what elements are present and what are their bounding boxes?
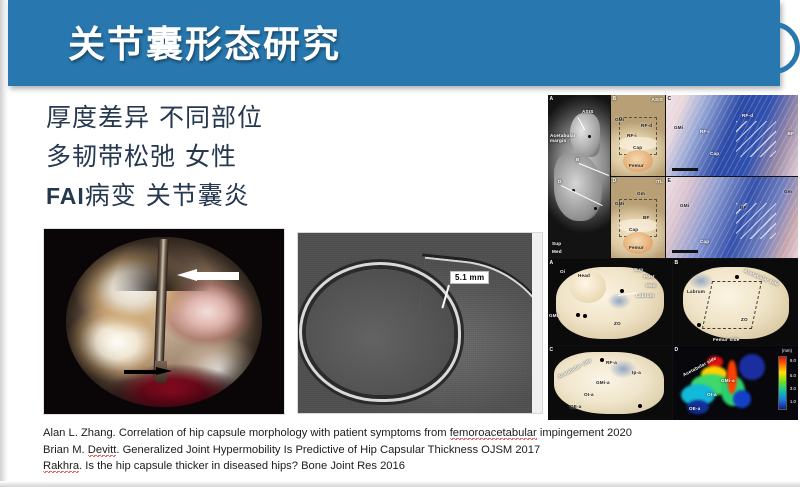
colorbar-tick-1: 9.0 — [790, 358, 796, 363]
colorbar-unit-label: (mm) — [782, 348, 792, 353]
label-oe-a: OE-a — [689, 406, 701, 411]
label-gm: Gm — [784, 189, 792, 194]
citation-3-post: . Is the hip capsule thicker in diseased… — [79, 460, 405, 472]
colorbar — [778, 356, 787, 410]
label-ip-a: Ip-a — [632, 370, 641, 375]
scale-bar — [672, 168, 698, 171]
marker-dot — [594, 207, 597, 210]
white-arrow-icon — [177, 269, 239, 282]
slide-bottom-border — [0, 481, 800, 487]
label-asis: ASIS — [582, 109, 594, 114]
bullet-line-3: FAI病变 关节囊炎 — [46, 176, 346, 216]
bullet-line-3-cn: 病变 关节囊炎 — [85, 181, 250, 210]
label-bf: BF — [740, 205, 747, 210]
citation-3-misspelled: Rakhra — [43, 460, 79, 473]
label-cap: Cap — [700, 239, 709, 244]
label-gmi-a: GMi-a — [596, 380, 610, 385]
label-oi-a: OI-a — [584, 392, 594, 397]
scale-bar — [672, 250, 698, 253]
citation-2-misspelled: Devitt — [88, 444, 117, 457]
panel-id-e: E — [668, 178, 671, 184]
label-med: Med — [552, 249, 562, 254]
label-rf-d: RF-d — [742, 113, 753, 118]
label-sup: Sup — [634, 267, 643, 272]
label-itl: ITL — [656, 179, 664, 184]
label-acetabular-margin: Acetabular margin — [550, 133, 574, 143]
citation-2-post: . Generalized Joint Hypermobility Is Pre… — [116, 444, 540, 456]
panel-gross-section-top: B ASIS GMi RF-d RF-i Cap Femur — [611, 95, 665, 176]
mri-right-margin — [532, 233, 542, 413]
label-d: D — [558, 179, 562, 184]
citation-1-misspelled: femoroacetabular — [450, 427, 537, 440]
label-rf-i: RF-i — [700, 129, 710, 134]
label-labrum: Labrum — [687, 289, 705, 294]
decorative-circle-icon — [748, 22, 800, 74]
label-zo: ZO — [741, 317, 748, 322]
label-zo: ZO — [614, 321, 621, 326]
label-rf-a: RF-a — [606, 360, 617, 365]
panel-gross-section-bottom: D GMi ITL Gm BF Cap Femur — [611, 177, 665, 258]
label-gmi: GMi — [680, 203, 689, 208]
label-femur: Femur — [629, 163, 644, 168]
panel-id-b: B — [613, 96, 617, 102]
citation-1-pre: Alan L. Zhang. Correlation of hip capsul… — [43, 427, 450, 439]
colorbar-tick-4: 1.0 — [790, 399, 796, 404]
citation-3: Rakhra. Is the hip capsule thicker in di… — [43, 458, 743, 475]
label-gmi: GMi — [674, 125, 683, 130]
label-gmi-a: GMi-a — [721, 378, 735, 383]
panel-id-a2: A — [550, 260, 554, 266]
citation-2-pre: Brian M. — [43, 444, 88, 456]
panel-id-d2: D — [675, 347, 679, 353]
citation-list: Alan L. Zhang. Correlation of hip capsul… — [43, 425, 743, 475]
mri-measurement-label: 5.1 mm — [450, 271, 489, 284]
label-labrum: Labrum — [636, 293, 654, 298]
presentation-slide: 关节囊形态研究 厚度差异 不同部位 多韧带松弛 女性 FAI病变 关节囊炎 5.… — [0, 0, 800, 487]
citation-1-post: impingement 2020 — [537, 427, 632, 439]
label-rf-d: RF-d — [641, 123, 652, 128]
label-med: Med — [646, 283, 656, 288]
label-gmi: GMi — [549, 313, 558, 318]
label-femur-side: Femur side — [713, 337, 740, 342]
panel-radiograph: A ASIS Acetabular margin B D Sup Med — [548, 95, 610, 258]
page-title: 关节囊形态研究 — [68, 14, 341, 68]
slide-left-border — [0, 0, 8, 487]
citation-2: Brian M. Devitt. Generalized Joint Hyper… — [43, 442, 743, 459]
label-gmi: GMi — [615, 117, 624, 122]
black-arrow-icon — [124, 367, 172, 376]
panel-thickness-heatmap: (mm) 9.0 5.0 3.0 1.0 D Acetabular side G… — [673, 346, 798, 420]
colorbar-tick-3: 3.0 — [790, 386, 796, 391]
bullet-line-1: 厚度差异 不同部位 — [46, 98, 346, 137]
colorbar-tick-2: 5.0 — [790, 373, 796, 378]
label-oi-a: OI-a — [707, 392, 717, 397]
panel-id-c2: C — [550, 347, 554, 353]
panel-histology-top: C GMi RF-d RF-i Cap BF — [666, 95, 798, 176]
label-oe-a: OE-a — [570, 404, 582, 409]
panel-specimen-right: B Labrum Acetabular side ZO Femur side — [673, 259, 798, 345]
panel-id-c: C — [668, 96, 672, 102]
label-head: Head — [578, 273, 590, 278]
panel-histology-bottom: E GMi BF Cap Gm — [666, 177, 798, 258]
panel-specimen-left: A Head Labrum GMi Oi ZO Sup Post Med — [548, 259, 672, 345]
label-bf: BF — [787, 131, 794, 136]
label-gmi: GMi — [615, 201, 624, 206]
citation-1: Alan L. Zhang. Correlation of hip capsul… — [43, 425, 743, 442]
label-rf-i: RF-i — [627, 133, 637, 138]
bullet-line-2: 多韧带松弛 女性 — [46, 137, 346, 176]
panel-id-d: D — [613, 178, 617, 184]
bullet-text-block: 厚度差异 不同部位 多韧带松弛 女性 FAI病变 关节囊炎 — [46, 98, 346, 216]
label-asis: ASIS — [651, 97, 663, 102]
label-post: Post — [644, 274, 655, 279]
label-b: B — [576, 157, 580, 162]
bullet-line-3-en: FAI — [46, 183, 85, 209]
label-cap: Cap — [710, 151, 719, 156]
hip-mri-coronal: 5.1 mm — [297, 232, 543, 414]
slide-title-bar: 关节囊形态研究 — [8, 0, 780, 86]
label-cap: Cap — [629, 227, 638, 232]
anatomy-figure-grid: A ASIS Acetabular margin B D Sup Med B A… — [548, 95, 798, 420]
marker-dot — [588, 135, 591, 138]
label-sup: Sup — [552, 241, 561, 246]
hip-arthroscopy-photo — [43, 228, 285, 415]
label-cap: Cap — [633, 145, 642, 150]
label-gm: Gm — [637, 191, 645, 196]
panel-id-b2: B — [675, 260, 679, 266]
label-bf: BF — [643, 215, 650, 220]
label-femur: Femur — [629, 245, 644, 250]
panel-specimen-bottom: C Acetabular side GMi-a OI-a OE-a RF-a I… — [548, 346, 672, 420]
label-oi: Oi — [560, 269, 565, 274]
panel-id-a: A — [550, 96, 554, 102]
